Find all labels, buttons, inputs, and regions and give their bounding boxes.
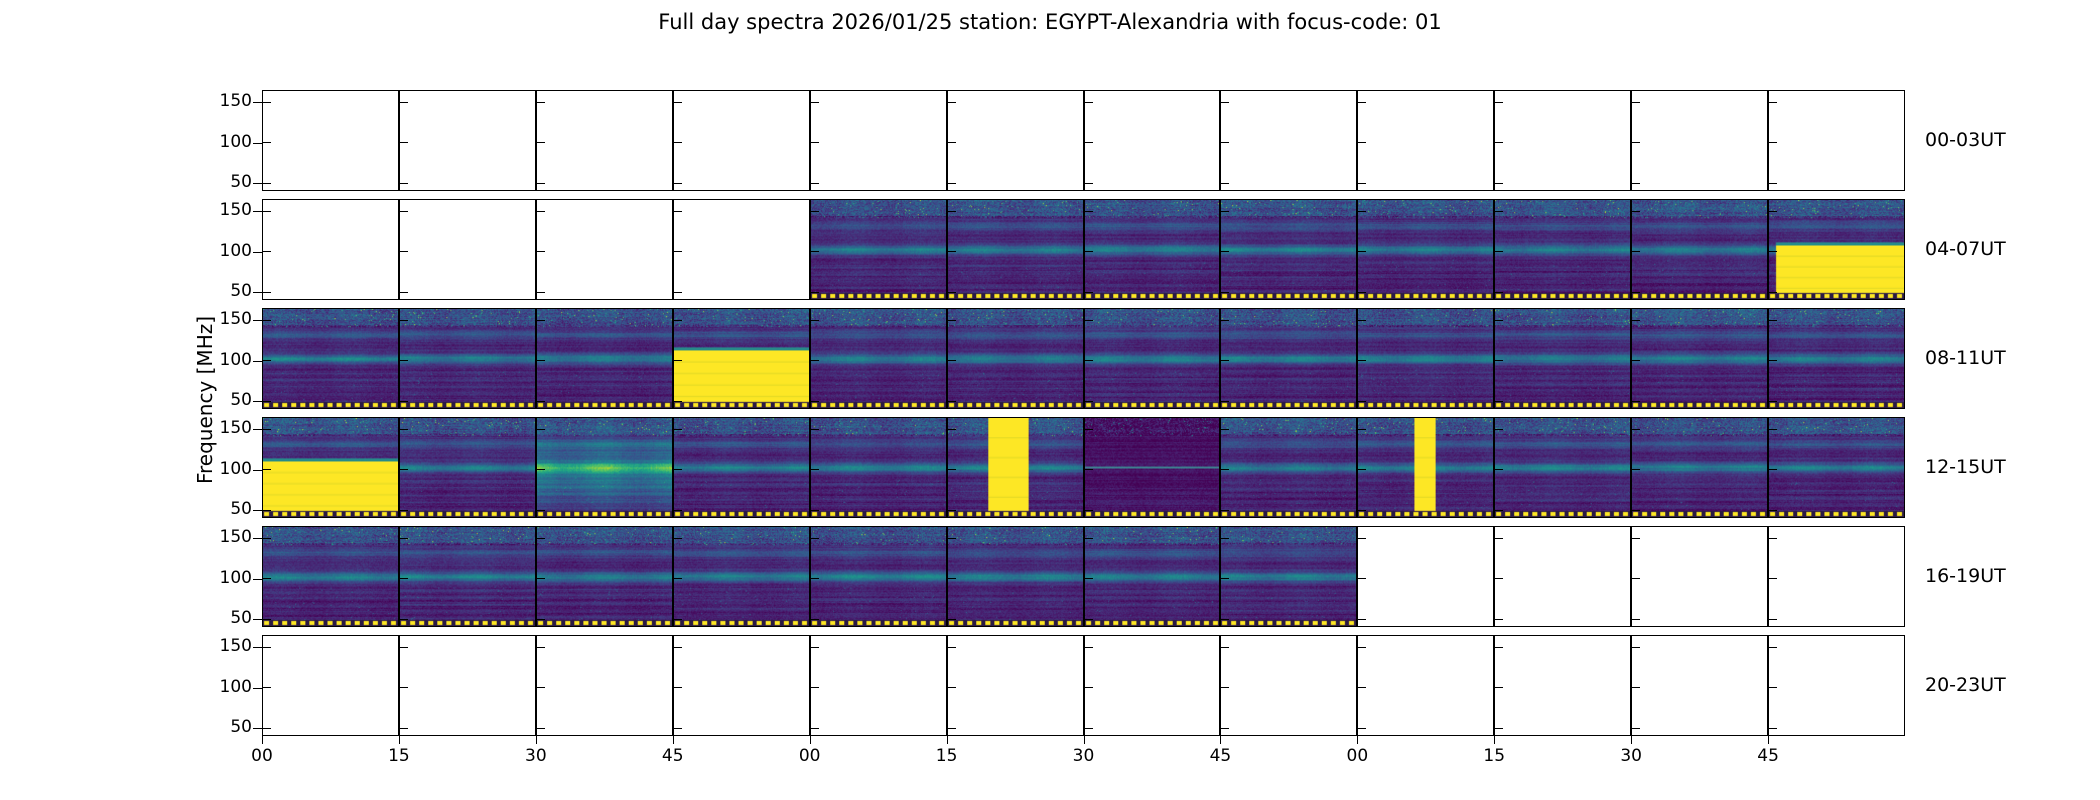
- spectrogram-panel: [810, 90, 947, 191]
- panel-tick-mark: [674, 401, 682, 402]
- panel-tick-mark: [1085, 360, 1093, 361]
- spectrogram-panel: [1220, 308, 1357, 409]
- spectrogram-image: [674, 527, 809, 626]
- y-tick-label: 100: [192, 241, 252, 261]
- panel-tick-mark: [811, 142, 819, 143]
- panel-tick-mark: [1085, 142, 1093, 143]
- y-tick-mark: [253, 102, 262, 103]
- panel-tick-mark: [1632, 538, 1640, 539]
- panel-tick-mark: [1495, 619, 1503, 620]
- panel-tick-mark: [1769, 619, 1777, 620]
- panel-tick-mark: [537, 538, 545, 539]
- panel-tick-mark: [948, 687, 956, 688]
- panel-tick-mark: [674, 320, 682, 321]
- spectrogram-panel: [1084, 199, 1220, 300]
- panel-tick-mark: [674, 647, 682, 648]
- panel-tick-mark: [1085, 102, 1093, 103]
- panel-tick-mark: [263, 469, 271, 470]
- panel-tick-mark: [1358, 360, 1366, 361]
- y-tick-label: 100: [192, 350, 252, 370]
- panel-tick-mark: [1632, 211, 1640, 212]
- spectrogram-panel: [1494, 417, 1631, 518]
- y-tick-label: 50: [192, 717, 252, 737]
- panel-tick-mark: [1358, 292, 1366, 293]
- spectrogram-row-04-07ut: 1501005004-07UT: [262, 199, 1905, 300]
- spectrogram-panel: [1357, 308, 1494, 409]
- x-tick-label: 00: [1337, 746, 1377, 766]
- panel-tick-mark: [1769, 429, 1777, 430]
- x-tick-label: 45: [1200, 746, 1240, 766]
- spectrogram-panel: [1768, 526, 1905, 627]
- panel-tick-mark: [1221, 292, 1229, 293]
- panel-tick-mark: [400, 142, 408, 143]
- panel-tick-mark: [1495, 687, 1503, 688]
- spectrogram-panel: [1631, 308, 1768, 409]
- spectrogram-image: [811, 418, 946, 517]
- spectrogram-panel: [399, 308, 536, 409]
- panel-tick-mark: [948, 510, 956, 511]
- panel-tick-mark: [1632, 320, 1640, 321]
- x-tick-label: 15: [379, 746, 419, 766]
- spectrogram-image: [1632, 309, 1767, 408]
- x-tick-mark: [1631, 736, 1632, 744]
- panel-tick-mark: [1632, 510, 1640, 511]
- y-tick-label: 100: [192, 459, 252, 479]
- panel-tick-mark: [674, 183, 682, 184]
- panel-tick-mark: [1769, 469, 1777, 470]
- spectrogram-panel: [262, 635, 399, 736]
- y-tick-label: 150: [192, 91, 252, 111]
- panel-tick-mark: [674, 687, 682, 688]
- panel-tick-mark: [1769, 578, 1777, 579]
- panel-tick-mark: [948, 211, 956, 212]
- x-tick-mark: [1357, 736, 1358, 744]
- panel-tick-mark: [1495, 360, 1503, 361]
- panel-tick-mark: [537, 183, 545, 184]
- spectrogram-panel: [947, 308, 1084, 409]
- panel-tick-mark: [1769, 360, 1777, 361]
- spectrogram-panel: [810, 417, 947, 518]
- spectrogram-image: [400, 309, 535, 408]
- spectrogram-image: [1358, 200, 1493, 299]
- x-tick-label: 15: [927, 746, 967, 766]
- panel-tick-mark: [948, 647, 956, 648]
- spectrogram-panel: [1084, 635, 1220, 736]
- figure-title: Full day spectra 2026/01/25 station: EGY…: [0, 10, 2100, 34]
- panel-tick-mark: [811, 469, 819, 470]
- x-tick-label: 00: [242, 746, 282, 766]
- panel-tick-mark: [811, 183, 819, 184]
- x-tick-mark: [1768, 736, 1769, 744]
- row-label-08-11ut: 08-11UT: [1925, 347, 2006, 369]
- row-label-16-19ut: 16-19UT: [1925, 565, 2006, 587]
- panel-tick-mark: [1495, 728, 1503, 729]
- panel-tick-mark: [1495, 211, 1503, 212]
- spectrogram-image: [1495, 418, 1630, 517]
- panel-tick-mark: [1632, 647, 1640, 648]
- panel-tick-mark: [674, 619, 682, 620]
- spectrogram-panel: [1494, 308, 1631, 409]
- x-tick-mark: [1494, 736, 1495, 744]
- spectrogram-panel: [536, 417, 673, 518]
- panel-tick-mark: [400, 292, 408, 293]
- panel-tick-mark: [263, 360, 271, 361]
- spectrogram-image: [1769, 200, 1904, 299]
- x-tick-label: 45: [1748, 746, 1788, 766]
- spectrogram-image: [1085, 527, 1219, 626]
- x-tick-mark: [399, 736, 400, 744]
- panel-tick-mark: [1358, 510, 1366, 511]
- panel-tick-mark: [1221, 102, 1229, 103]
- panel-tick-mark: [948, 183, 956, 184]
- figure-canvas: Full day spectra 2026/01/25 station: EGY…: [0, 0, 2100, 800]
- panel-tick-mark: [674, 538, 682, 539]
- panel-tick-mark: [263, 538, 271, 539]
- spectrogram-row-20-23ut: 1501005020-23UT: [262, 635, 1905, 736]
- panel-tick-mark: [811, 211, 819, 212]
- panel-tick-mark: [674, 728, 682, 729]
- panel-tick-mark: [1769, 728, 1777, 729]
- panel-tick-mark: [1221, 360, 1229, 361]
- panel-tick-mark: [1769, 183, 1777, 184]
- panel-tick-mark: [1495, 578, 1503, 579]
- panel-tick-mark: [1358, 251, 1366, 252]
- panel-tick-mark: [263, 211, 271, 212]
- row-label-04-07ut: 04-07UT: [1925, 238, 2006, 260]
- panel-tick-mark: [263, 102, 271, 103]
- panel-tick-mark: [1221, 469, 1229, 470]
- spectrogram-panel: [1084, 417, 1220, 518]
- x-tick-mark: [947, 736, 948, 744]
- panel-tick-mark: [948, 102, 956, 103]
- spectrogram-image: [1632, 418, 1767, 517]
- spectrogram-image: [1769, 309, 1904, 408]
- panel-tick-mark: [811, 320, 819, 321]
- panel-tick-mark: [537, 510, 545, 511]
- spectrogram-image: [1221, 309, 1356, 408]
- x-tick-mark: [536, 736, 537, 744]
- spectrogram-panel: [810, 635, 947, 736]
- panel-tick-mark: [263, 251, 271, 252]
- panel-tick-mark: [948, 469, 956, 470]
- spectrogram-image: [400, 527, 535, 626]
- spectrogram-panel: [947, 526, 1084, 627]
- x-tick-label: 15: [1474, 746, 1514, 766]
- panel-tick-mark: [400, 469, 408, 470]
- panel-tick-mark: [537, 401, 545, 402]
- panel-tick-mark: [1358, 429, 1366, 430]
- panel-tick-mark: [674, 578, 682, 579]
- panel-tick-mark: [674, 292, 682, 293]
- y-tick-label: 150: [192, 418, 252, 438]
- panel-tick-mark: [263, 687, 271, 688]
- panel-tick-mark: [400, 510, 408, 511]
- panel-tick-mark: [1221, 320, 1229, 321]
- panel-tick-mark: [400, 183, 408, 184]
- panel-tick-mark: [1632, 142, 1640, 143]
- panel-tick-mark: [811, 292, 819, 293]
- x-tick-label: 30: [516, 746, 556, 766]
- y-tick-label: 100: [192, 568, 252, 588]
- spectrogram-panel: [399, 199, 536, 300]
- spectrogram-panel: [1357, 635, 1494, 736]
- panel-tick-mark: [1358, 102, 1366, 103]
- spectrogram-panel: [1631, 635, 1768, 736]
- panel-tick-mark: [1632, 251, 1640, 252]
- panel-tick-mark: [1495, 647, 1503, 648]
- spectrogram-panel: [1084, 526, 1220, 627]
- panel-tick-mark: [537, 102, 545, 103]
- y-tick-mark: [253, 401, 262, 402]
- spectrogram-row-16-19ut: 1501005016-19UT: [262, 526, 1905, 627]
- panel-tick-mark: [948, 292, 956, 293]
- panel-tick-mark: [1358, 142, 1366, 143]
- spectrogram-panel: [1768, 90, 1905, 191]
- panel-tick-mark: [1769, 687, 1777, 688]
- panel-tick-mark: [1085, 728, 1093, 729]
- panel-tick-mark: [811, 619, 819, 620]
- spectrogram-panel: [1494, 635, 1631, 736]
- x-tick-label: 45: [653, 746, 693, 766]
- panel-tick-mark: [674, 510, 682, 511]
- panel-tick-mark: [1221, 538, 1229, 539]
- spectrogram-image: [263, 418, 398, 517]
- spectrogram-panel: [536, 199, 673, 300]
- spectrogram-panel: [1631, 199, 1768, 300]
- panel-tick-mark: [1221, 647, 1229, 648]
- spectrogram-image: [811, 309, 946, 408]
- y-tick-mark: [253, 183, 262, 184]
- panel-tick-mark: [263, 429, 271, 430]
- panel-tick-mark: [1085, 251, 1093, 252]
- spectrogram-panel: [1494, 199, 1631, 300]
- row-label-12-15ut: 12-15UT: [1925, 456, 2006, 478]
- spectrogram-panel: [673, 526, 810, 627]
- y-tick-label: 150: [192, 636, 252, 656]
- spectrogram-panel: [947, 199, 1084, 300]
- spectrogram-image: [1632, 200, 1767, 299]
- spectrogram-panel: [673, 199, 810, 300]
- panel-tick-mark: [537, 619, 545, 620]
- panel-tick-mark: [1769, 538, 1777, 539]
- spectrogram-image: [1495, 309, 1630, 408]
- panel-tick-mark: [1085, 401, 1093, 402]
- panel-tick-mark: [1358, 728, 1366, 729]
- panel-tick-mark: [811, 538, 819, 539]
- panel-tick-mark: [1632, 292, 1640, 293]
- panel-tick-mark: [948, 142, 956, 143]
- panel-tick-mark: [537, 292, 545, 293]
- panel-tick-mark: [1769, 647, 1777, 648]
- panel-tick-mark: [1085, 619, 1093, 620]
- spectrogram-panel: [947, 417, 1084, 518]
- panel-tick-mark: [1632, 619, 1640, 620]
- spectrogram-panel: [536, 635, 673, 736]
- panel-tick-mark: [811, 647, 819, 648]
- panel-tick-mark: [948, 320, 956, 321]
- panel-tick-mark: [1632, 687, 1640, 688]
- y-tick-label: 100: [192, 677, 252, 697]
- spectrogram-panel: [673, 90, 810, 191]
- spectrogram-image: [948, 200, 1083, 299]
- panel-tick-mark: [1221, 510, 1229, 511]
- spectrogram-image: [400, 418, 535, 517]
- panel-tick-mark: [811, 578, 819, 579]
- spectrogram-image: [948, 418, 1083, 517]
- y-tick-mark: [253, 320, 262, 321]
- panel-tick-mark: [1085, 183, 1093, 184]
- panel-tick-mark: [811, 510, 819, 511]
- panel-tick-mark: [1495, 320, 1503, 321]
- spectrogram-panel: [1631, 90, 1768, 191]
- spectrogram-panel: [1357, 90, 1494, 191]
- panel-tick-mark: [811, 429, 819, 430]
- panel-tick-mark: [1495, 102, 1503, 103]
- y-tick-mark: [253, 510, 262, 511]
- panel-tick-mark: [1085, 211, 1093, 212]
- panel-tick-mark: [263, 647, 271, 648]
- spectrogram-image: [263, 527, 398, 626]
- panel-tick-mark: [948, 728, 956, 729]
- panel-tick-mark: [1495, 292, 1503, 293]
- panel-tick-mark: [400, 687, 408, 688]
- panel-tick-mark: [1495, 510, 1503, 511]
- spectrogram-image: [948, 309, 1083, 408]
- panel-tick-mark: [1221, 687, 1229, 688]
- spectrogram-panel: [1768, 199, 1905, 300]
- panel-tick-mark: [263, 619, 271, 620]
- y-tick-label: 50: [192, 608, 252, 628]
- panel-tick-mark: [948, 401, 956, 402]
- spectrogram-panel: [1220, 526, 1357, 627]
- y-tick-label: 150: [192, 527, 252, 547]
- spectrogram-panel: [1220, 90, 1357, 191]
- spectrogram-panel: [947, 635, 1084, 736]
- panel-tick-mark: [537, 647, 545, 648]
- panel-tick-mark: [263, 183, 271, 184]
- spectrogram-panel: [262, 308, 399, 409]
- panel-tick-mark: [537, 360, 545, 361]
- panel-tick-mark: [811, 360, 819, 361]
- panel-tick-mark: [1085, 647, 1093, 648]
- spectrogram-image: [674, 309, 809, 408]
- panel-tick-mark: [263, 142, 271, 143]
- panel-tick-mark: [1358, 211, 1366, 212]
- panel-tick-mark: [1495, 469, 1503, 470]
- panel-tick-mark: [1221, 728, 1229, 729]
- panel-tick-mark: [1221, 211, 1229, 212]
- panel-tick-mark: [400, 360, 408, 361]
- spectrogram-panel: [1494, 526, 1631, 627]
- spectrogram-panel: [1494, 90, 1631, 191]
- spectrogram-image: [811, 527, 946, 626]
- panel-tick-mark: [1358, 578, 1366, 579]
- row-label-00-03ut: 00-03UT: [1925, 129, 2006, 151]
- panel-tick-mark: [674, 469, 682, 470]
- spectrogram-image: [1085, 200, 1219, 299]
- panel-tick-mark: [948, 429, 956, 430]
- panel-tick-mark: [400, 647, 408, 648]
- panel-tick-mark: [811, 251, 819, 252]
- panel-tick-mark: [1769, 102, 1777, 103]
- y-tick-mark: [253, 538, 262, 539]
- spectrogram-image: [948, 527, 1083, 626]
- spectrogram-panel: [399, 526, 536, 627]
- spectrogram-panel: [262, 417, 399, 518]
- panel-tick-mark: [537, 251, 545, 252]
- x-tick-mark: [1084, 736, 1085, 744]
- spectrogram-panel: [262, 90, 399, 191]
- panel-tick-mark: [537, 469, 545, 470]
- panel-tick-mark: [537, 211, 545, 212]
- panel-tick-mark: [537, 320, 545, 321]
- panel-tick-mark: [948, 578, 956, 579]
- panel-tick-mark: [1495, 183, 1503, 184]
- spectrogram-panel: [673, 417, 810, 518]
- spectrogram-panel: [673, 308, 810, 409]
- panel-tick-mark: [1221, 251, 1229, 252]
- panel-tick-mark: [1085, 687, 1093, 688]
- spectrogram-panel: [1631, 526, 1768, 627]
- spectrogram-panel: [810, 308, 947, 409]
- panel-tick-mark: [263, 320, 271, 321]
- panel-tick-mark: [1085, 469, 1093, 470]
- spectrogram-panel: [673, 635, 810, 736]
- panel-tick-mark: [1358, 401, 1366, 402]
- panel-tick-mark: [674, 429, 682, 430]
- y-tick-mark: [253, 211, 262, 212]
- panel-tick-mark: [948, 538, 956, 539]
- spectrogram-image: [1085, 418, 1219, 517]
- spectrogram-panel: [536, 90, 673, 191]
- row-label-20-23ut: 20-23UT: [1925, 674, 2006, 696]
- panel-tick-mark: [1632, 578, 1640, 579]
- panel-tick-mark: [674, 360, 682, 361]
- y-tick-label: 50: [192, 172, 252, 192]
- spectrogram-image: [1358, 418, 1493, 517]
- panel-tick-mark: [537, 578, 545, 579]
- spectrogram-panel: [262, 199, 399, 300]
- spectrogram-panel: [1631, 417, 1768, 518]
- spectrogram-image: [537, 527, 672, 626]
- x-tick-mark: [810, 736, 811, 744]
- spectrogram-image: [1769, 418, 1904, 517]
- spectrogram-image: [537, 309, 672, 408]
- panel-tick-mark: [1769, 510, 1777, 511]
- panel-tick-mark: [1221, 401, 1229, 402]
- y-tick-label: 50: [192, 281, 252, 301]
- y-tick-mark: [253, 619, 262, 620]
- spectrogram-image: [263, 309, 398, 408]
- panel-tick-mark: [1221, 578, 1229, 579]
- panel-tick-mark: [263, 510, 271, 511]
- panel-tick-mark: [537, 687, 545, 688]
- spectrogram-panel: [1220, 417, 1357, 518]
- y-tick-mark: [253, 143, 262, 144]
- spectrogram-panel: [536, 308, 673, 409]
- spectrogram-panel: [399, 417, 536, 518]
- panel-tick-mark: [1358, 469, 1366, 470]
- panel-tick-mark: [1085, 510, 1093, 511]
- spectrogram-panel: [1357, 199, 1494, 300]
- panel-tick-mark: [1495, 142, 1503, 143]
- panel-tick-mark: [1221, 429, 1229, 430]
- y-tick-label: 50: [192, 499, 252, 519]
- panel-tick-mark: [811, 401, 819, 402]
- spectrogram-image: [1085, 309, 1219, 408]
- panel-tick-mark: [400, 429, 408, 430]
- panel-tick-mark: [1769, 292, 1777, 293]
